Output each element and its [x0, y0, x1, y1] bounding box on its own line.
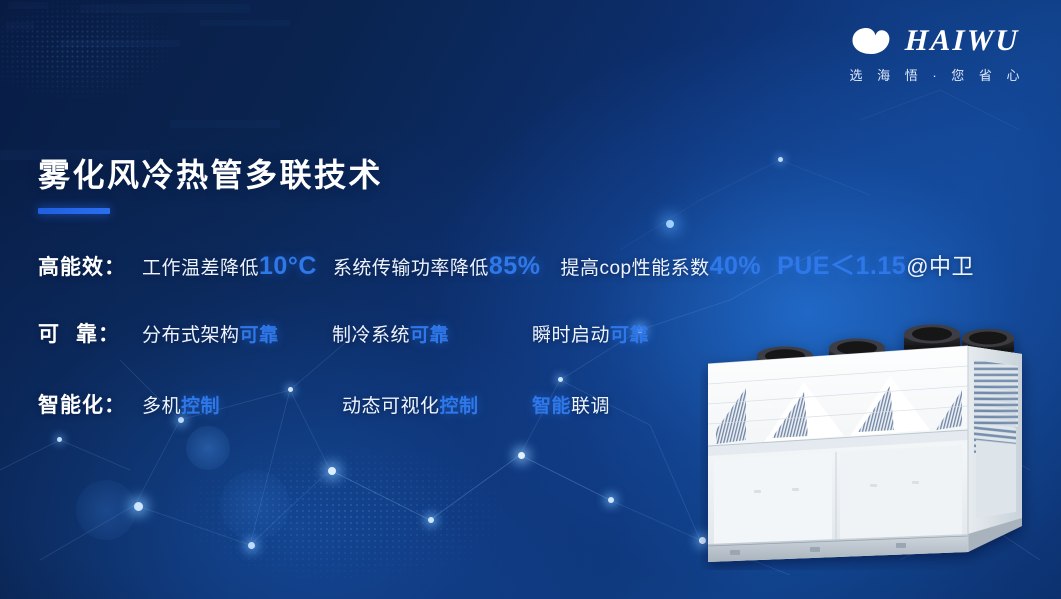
feature-item-highlight: 85% — [489, 252, 541, 280]
feature-item-text: 分布式架构 — [142, 325, 240, 346]
title-underline-bar — [38, 208, 110, 214]
feature-item: 瞬时启动可靠 — [532, 320, 649, 347]
feature-item-pue: PUE＜1.15@中卫 — [777, 246, 974, 282]
row-label-part1: 可 — [38, 323, 60, 346]
logo-wordmark: HAIWU — [905, 26, 1020, 56]
feature-item-text: 制冷系统 — [332, 325, 410, 346]
feature-item: 智能联调 — [532, 391, 610, 418]
feature-item-highlight: 40% — [710, 252, 762, 280]
feature-item-text: 联调 — [571, 396, 610, 417]
feature-item-highlight: 可靠 — [610, 325, 649, 346]
feature-item-highlight: 10°C — [259, 252, 317, 280]
feature-item-highlight: PUE＜1.15 — [777, 252, 906, 280]
feature-item-text: 动态可视化 — [342, 396, 440, 417]
feature-item: 分布式架构可靠 — [142, 320, 332, 347]
page-title: 雾化风冷热管多联技术 — [38, 150, 383, 196]
row-items-intelligence: 多机控制 动态可视化控制 智能联调 — [142, 391, 610, 418]
feature-item: 多机控制 — [142, 391, 342, 418]
feature-item-text: 工作温差降低 — [142, 258, 259, 279]
row-items-efficiency: 工作温差降低10°C 系统传输功率降低85% 提高cop性能系数40% PUE＜… — [142, 246, 974, 282]
wave-leaf-icon — [849, 26, 893, 56]
feature-item-highlight: 可靠 — [240, 325, 279, 346]
feature-row-reliability: 可靠： 分布式架构可靠 制冷系统可靠 瞬时启动可靠 — [38, 318, 649, 348]
feature-item-text: 系统传输功率降低 — [333, 258, 489, 279]
row-label-part2: 靠： — [76, 323, 120, 346]
row-label-reliability: 可靠： — [38, 318, 142, 348]
feature-item-highlight: 控制 — [440, 396, 479, 417]
row-items-reliability: 分布式架构可靠 制冷系统可靠 瞬时启动可靠 — [142, 320, 649, 347]
feature-item: 提高cop性能系数40% — [560, 252, 761, 281]
feature-item-text: 提高cop性能系数 — [560, 258, 709, 279]
feature-item: 系统传输功率降低85% — [333, 252, 541, 281]
brand-logo: HAIWU 选 海 悟 · 您 省 心 — [843, 26, 1025, 84]
feature-row-intelligence: 智能化： 多机控制 动态可视化控制 智能联调 — [38, 389, 610, 419]
feature-item: 工作温差降低10°C — [142, 252, 317, 281]
feature-item-suffix: @中卫 — [906, 254, 974, 279]
air-cooled-chiller-unit-image — [700, 312, 1050, 570]
feature-row-efficiency: 高能效： 工作温差降低10°C 系统传输功率降低85% 提高cop性能系数40%… — [38, 246, 974, 282]
feature-item-highlight: 控制 — [181, 396, 220, 417]
slide-root: HAIWU 选 海 悟 · 您 省 心 雾化风冷热管多联技术 高能效： 工作温差… — [0, 0, 1061, 599]
feature-item: 动态可视化控制 — [342, 391, 532, 418]
feature-item-text: 多机 — [142, 396, 181, 417]
chiller-illustration — [700, 312, 1050, 570]
logo-tagline: 选 海 悟 · 您 省 心 — [843, 65, 1025, 84]
feature-item-highlight: 智能 — [532, 396, 571, 417]
feature-item: 制冷系统可靠 — [332, 320, 532, 347]
row-label-efficiency: 高能效： — [38, 251, 142, 281]
feature-item-highlight: 可靠 — [410, 325, 449, 346]
row-label-intelligence: 智能化： — [38, 389, 142, 419]
feature-item-text: 瞬时启动 — [532, 325, 610, 346]
